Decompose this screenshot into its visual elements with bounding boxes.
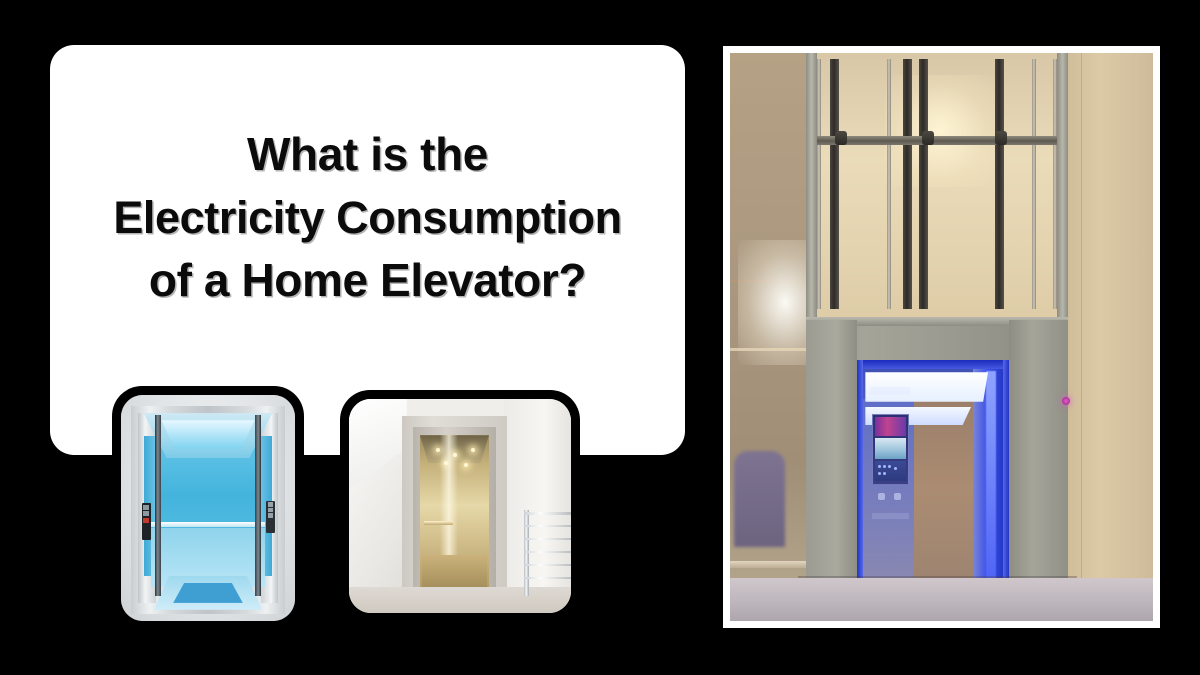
shaft-interior-light	[885, 75, 995, 186]
hero-photo-frame	[723, 46, 1160, 628]
furniture-silhouette	[734, 451, 785, 548]
doorway-led-frame-left	[857, 360, 863, 604]
screen-icon	[894, 467, 897, 470]
shaft-mullion	[1053, 59, 1057, 309]
stair-rail-bar	[524, 551, 571, 553]
door-open-button-icon[interactable]	[878, 493, 885, 500]
hallway-floor	[349, 587, 571, 613]
elevator-cabin-illustration	[121, 395, 295, 621]
right-wood-wall	[1056, 53, 1153, 621]
panel-alarm-indicator	[143, 518, 149, 523]
cabin-floor-mat	[173, 583, 243, 603]
poster-canvas: What is the Electricity Consumption of a…	[0, 0, 1200, 675]
cabin-back-wall	[914, 394, 973, 604]
screen-icon	[883, 472, 886, 475]
panel-indicator	[268, 502, 273, 506]
stair-rail-bar	[524, 577, 571, 579]
elevator-interior-shelf	[424, 521, 453, 525]
baseboard	[730, 561, 806, 568]
elevator-call-button[interactable]	[1062, 397, 1070, 405]
doorway-led-frame-top	[857, 360, 1009, 369]
room-floor	[730, 578, 1153, 621]
thumbnail-image-blue-cabin	[121, 395, 295, 621]
shaft-cross-beam	[811, 136, 1063, 145]
stair-rail-bar	[524, 564, 571, 566]
shaft-guide-rail	[919, 59, 928, 309]
shaft-guide-rail	[830, 59, 839, 309]
screen-icon	[878, 472, 881, 475]
shaft-mullion	[1032, 59, 1036, 309]
shaft-mullion	[887, 59, 891, 309]
cabin-control-panel-left	[142, 503, 151, 539]
panel-indicator	[143, 511, 149, 516]
panel-indicator	[143, 505, 149, 510]
cabin-touchscreen-display[interactable]	[872, 414, 908, 486]
rail-bracket	[835, 131, 847, 145]
doorway-led-frame-right	[1003, 360, 1009, 604]
screen-content-area	[875, 461, 907, 482]
screen-image-tile	[875, 438, 907, 459]
cabin-call-buttons[interactable]	[878, 493, 903, 505]
cabin-left-post	[155, 415, 161, 596]
wall-trim	[730, 348, 810, 351]
page-title: What is the Electricity Consumption of a…	[50, 123, 685, 312]
cabin-ceiling-light	[159, 420, 256, 449]
headline-line-2: Electricity Consumption	[50, 186, 685, 249]
hero-photo-image	[730, 53, 1153, 621]
door-close-button-icon[interactable]	[894, 493, 901, 500]
cabin-brand-plate	[870, 387, 910, 395]
stair-rail-bar	[524, 538, 571, 540]
thumbnail-card-blue-cabin	[112, 386, 304, 630]
shaft-left-frame	[806, 53, 817, 331]
thumbnail-image-golden-hall	[349, 399, 571, 613]
screen-icon	[878, 465, 881, 468]
shaft-right-frame	[1057, 53, 1068, 331]
hallway-right-wall	[504, 399, 571, 613]
rail-bracket	[995, 131, 1007, 145]
headline-line-3: of a Home Elevator?	[50, 249, 685, 312]
cabin-control-panel-right	[266, 501, 275, 533]
ceiling-lamp-icon	[436, 448, 440, 452]
cabin-handrail	[151, 522, 266, 527]
screen-header-banner	[875, 417, 907, 435]
headline-line-1: What is the	[50, 123, 685, 186]
cabin-right-post	[255, 415, 261, 596]
thumbnail-card-golden-hall	[340, 390, 580, 622]
cabin-led-core	[986, 371, 995, 598]
cabin-panel-caption	[872, 513, 908, 519]
panel-indicator	[268, 513, 273, 517]
shaft-mullion	[817, 59, 821, 309]
stair-rail-bar	[524, 512, 571, 514]
screen-icon	[888, 465, 891, 468]
wall-seam	[1081, 53, 1082, 621]
elevator-glass-shaft	[806, 53, 1068, 331]
stair-rail-bar	[524, 525, 571, 527]
screen-icon	[883, 465, 886, 468]
panel-indicator	[268, 508, 273, 512]
shaft-guide-rail	[995, 59, 1004, 309]
shaft-guide-rail	[903, 59, 912, 309]
home-elevator-hallway-illustration	[349, 399, 571, 613]
elevator-lower-panel	[422, 555, 486, 587]
rail-bracket	[922, 131, 934, 145]
